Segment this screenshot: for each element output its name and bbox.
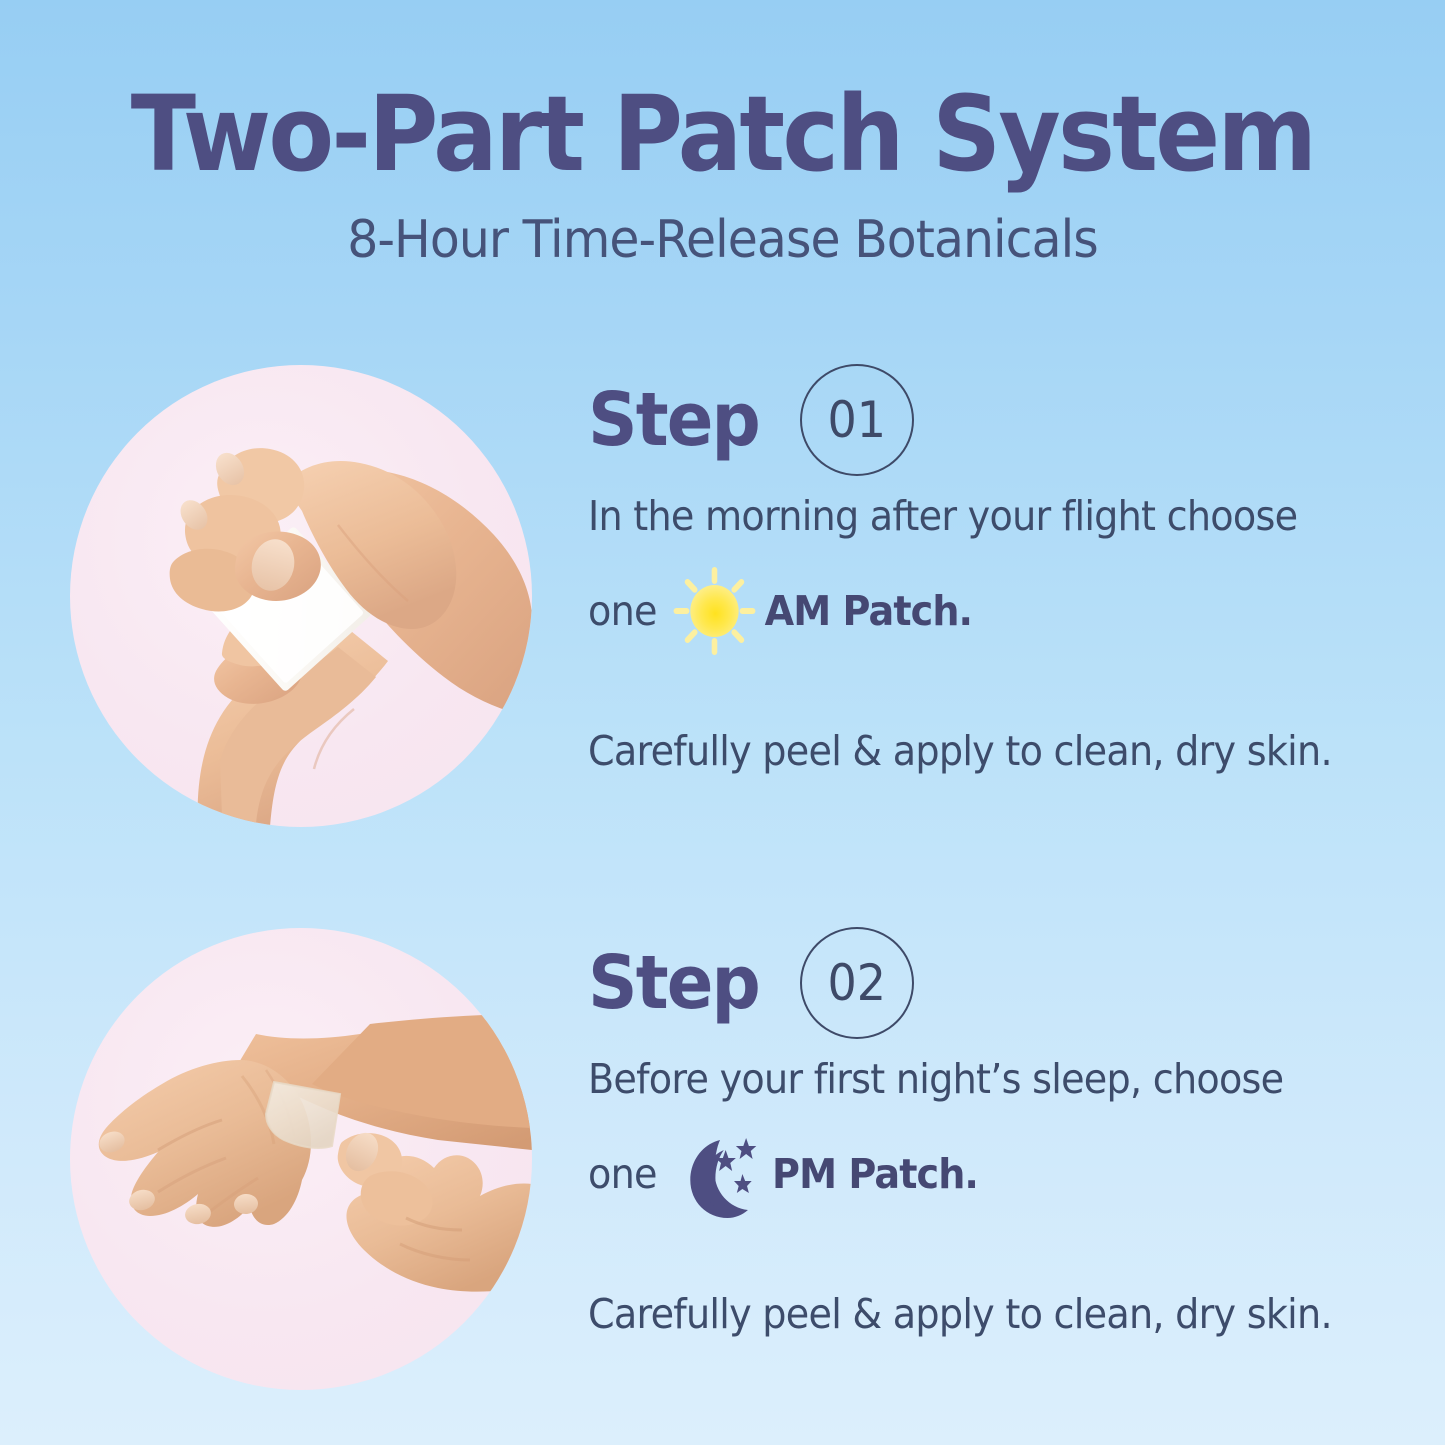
step-01-heading: Step 01 bbox=[588, 362, 1388, 478]
step-02-heading: Step 02 bbox=[588, 925, 1388, 1041]
moon-icon bbox=[672, 1128, 763, 1220]
step-02-line-2-prefix: one bbox=[588, 1152, 657, 1197]
step-01-line-2-prefix: one bbox=[588, 589, 657, 634]
sun-icon bbox=[672, 565, 758, 657]
step-01-number: 01 bbox=[828, 395, 887, 445]
step-01-label: Step bbox=[588, 383, 759, 457]
step-block-01: Step 01 In the morning after your flight… bbox=[0, 362, 1445, 832]
hands-holding-patch-illustration bbox=[70, 365, 532, 827]
step-02-tail: Carefully peel & apply to clean, dry ski… bbox=[588, 1292, 1332, 1337]
step-01-tail: Carefully peel & apply to clean, dry ski… bbox=[588, 729, 1332, 774]
step-01-number-badge: 01 bbox=[800, 364, 914, 476]
step-02-line-2: one PM Patch. bbox=[588, 1128, 1332, 1220]
page-title: Two-Part Patch System bbox=[58, 78, 1387, 190]
page-subtitle: 8-Hour Time-Release Botanicals bbox=[43, 210, 1401, 270]
step-02-patch-name: PM Patch. bbox=[772, 1152, 978, 1197]
step-block-02: Step 02 Before your first night’s sleep,… bbox=[0, 925, 1445, 1395]
step-02-number-badge: 02 bbox=[800, 927, 914, 1039]
step-02-line-1: Before your first night’s sleep, choose bbox=[588, 1057, 1332, 1102]
step-02-label: Step bbox=[588, 946, 759, 1020]
header: Two-Part Patch System 8-Hour Time-Releas… bbox=[0, 78, 1445, 270]
step-01-line-2: one AM Patch. bbox=[588, 565, 1332, 657]
step-01-line-1: In the morning after your flight choose bbox=[588, 494, 1332, 539]
step-02-photo-circle bbox=[70, 928, 532, 1390]
patch-applied-to-wrist-illustration bbox=[70, 928, 532, 1390]
step-01-text: Step 01 In the morning after your flight… bbox=[588, 362, 1388, 774]
product-infographic: Two-Part Patch System 8-Hour Time-Releas… bbox=[0, 0, 1445, 1445]
step-01-photo-circle bbox=[70, 365, 532, 827]
step-01-patch-name: AM Patch. bbox=[765, 589, 972, 634]
step-02-text: Step 02 Before your first night’s sleep,… bbox=[588, 925, 1388, 1337]
crescent-moon-with-stars bbox=[672, 1128, 763, 1220]
step-02-number: 02 bbox=[828, 958, 887, 1008]
